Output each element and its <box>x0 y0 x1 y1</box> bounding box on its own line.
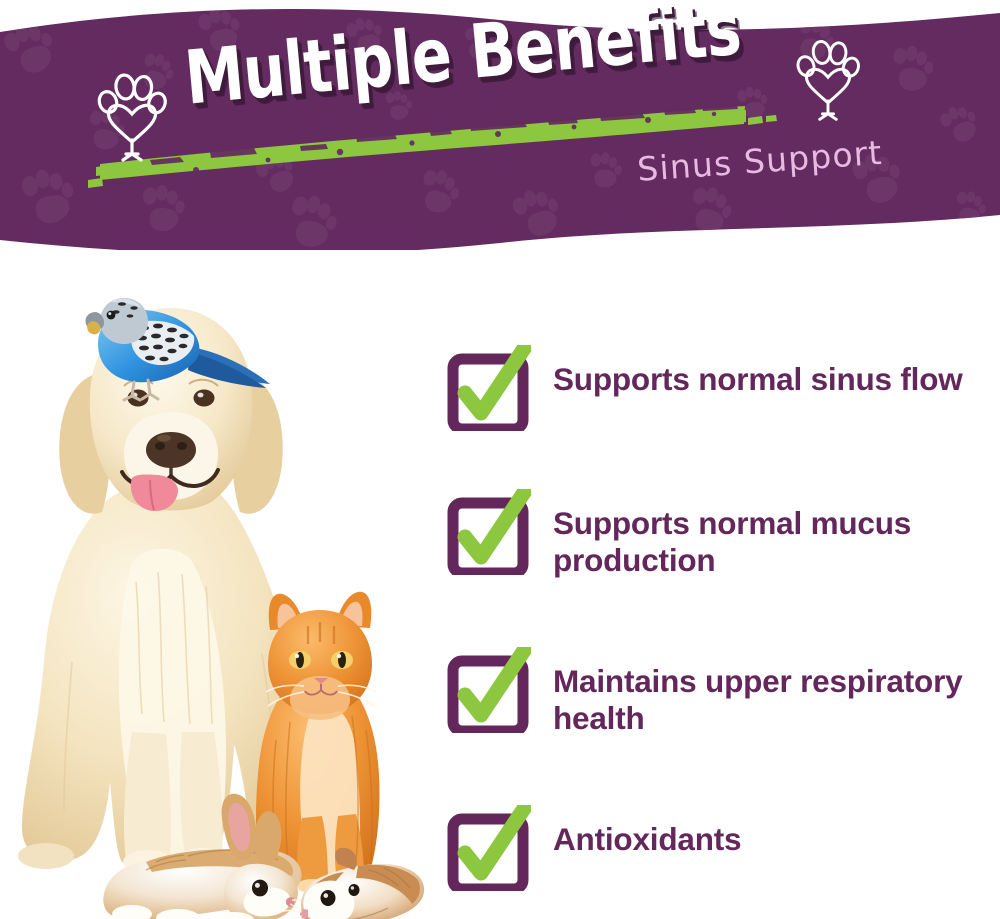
benefit-item: Antioxidants <box>445 805 741 891</box>
benefit-label: Maintains upper respiratory health <box>531 647 1000 737</box>
pets-illustration <box>10 262 440 919</box>
checkbox-checked-icon <box>445 489 531 575</box>
benefit-item: Supports normal mucus production <box>445 489 1000 579</box>
product-benefits-infographic: Multiple Benefits Sinus Support <box>0 0 1000 919</box>
benefit-label: Antioxidants <box>531 805 741 858</box>
benefit-label: Supports normal mucus production <box>531 489 1000 579</box>
checkbox-checked-icon <box>445 805 531 891</box>
checkbox-checked-icon <box>445 345 531 431</box>
benefit-item: Maintains upper respiratory health <box>445 647 1000 737</box>
rabbit-eye <box>252 880 268 897</box>
paw-heart-icon <box>795 36 861 122</box>
pets-group-photo <box>10 262 440 919</box>
checkbox-checked-icon <box>445 647 531 733</box>
guinea-pig-eye <box>321 890 336 906</box>
paw-heart-icon <box>96 70 168 162</box>
dog-eye-right <box>194 390 215 407</box>
benefit-item: Supports normal sinus flow <box>445 345 963 431</box>
benefit-label: Supports normal sinus flow <box>531 345 963 398</box>
banner: Multiple Benefits Sinus Support <box>0 0 1000 250</box>
